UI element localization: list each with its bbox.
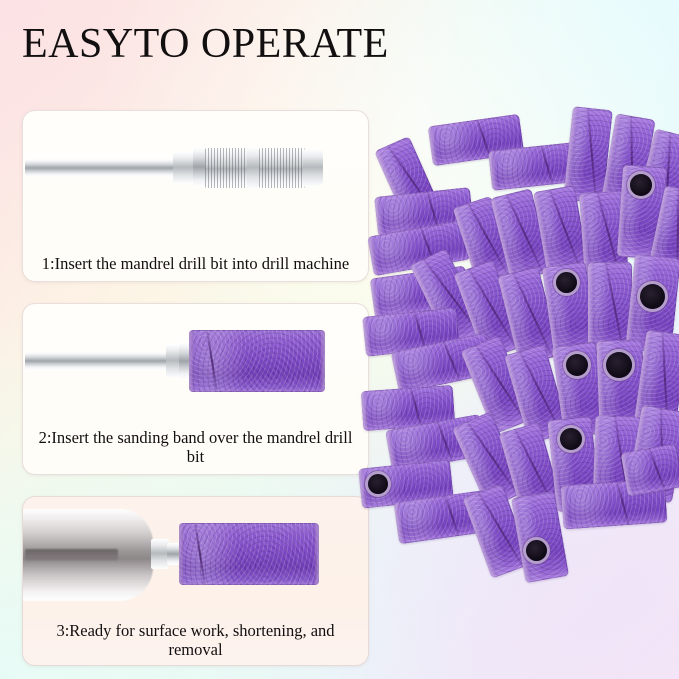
step-card-2: 2:Insert the sanding band over the mandr… bbox=[22, 303, 369, 475]
mandrel-end-cap bbox=[303, 149, 323, 187]
infographic-root: EASYTO OPERATE 1:Insert the mandrel dril… bbox=[0, 0, 679, 679]
step-card-3: 3:Ready for surface work, shortening, an… bbox=[22, 496, 369, 666]
drill-machine-handpiece bbox=[22, 509, 153, 601]
sanding-band-bore bbox=[566, 354, 588, 376]
mandrel-knurl-b bbox=[259, 148, 305, 188]
step-1-illustration bbox=[23, 111, 368, 219]
sanding-band bbox=[179, 523, 319, 585]
step-1-caption: 1:Insert the mandrel drill bit into dril… bbox=[23, 254, 368, 273]
band-right-edge bbox=[320, 330, 325, 392]
sanding-band-bore bbox=[606, 352, 632, 378]
sanding-band-bore bbox=[640, 284, 665, 309]
step-3-illustration bbox=[23, 497, 368, 602]
mandrel-knurl-a bbox=[205, 148, 249, 188]
handpiece-shadow-line bbox=[25, 549, 117, 561]
sanding-band-bore bbox=[630, 174, 652, 196]
band-right-edge bbox=[314, 523, 319, 585]
step-card-1: 1:Insert the mandrel drill bit into dril… bbox=[22, 110, 369, 282]
step-3-caption: 3:Ready for surface work, shortening, an… bbox=[23, 621, 368, 659]
step-2-caption: 2:Insert the sanding band over the mandr… bbox=[23, 428, 368, 466]
mandrel-shank bbox=[25, 159, 177, 177]
band-left-edge bbox=[189, 330, 194, 392]
sanding-band bbox=[189, 330, 325, 392]
sanding-band-bore bbox=[556, 272, 577, 293]
page-title: EASYTO OPERATE bbox=[22, 22, 622, 66]
band-seam bbox=[205, 330, 219, 392]
sanding-band-bore bbox=[560, 428, 582, 450]
band-seam bbox=[193, 523, 207, 585]
product-photo-sanding-bands bbox=[372, 96, 679, 588]
mandrel-taper-collar bbox=[173, 152, 195, 184]
sanding-band-bore bbox=[526, 540, 547, 561]
step-2-illustration bbox=[23, 304, 368, 412]
band-left-edge bbox=[179, 523, 184, 585]
sanding-band-tube bbox=[621, 443, 679, 496]
sanding-band-bore bbox=[368, 474, 388, 494]
mandrel-shank bbox=[25, 352, 170, 370]
